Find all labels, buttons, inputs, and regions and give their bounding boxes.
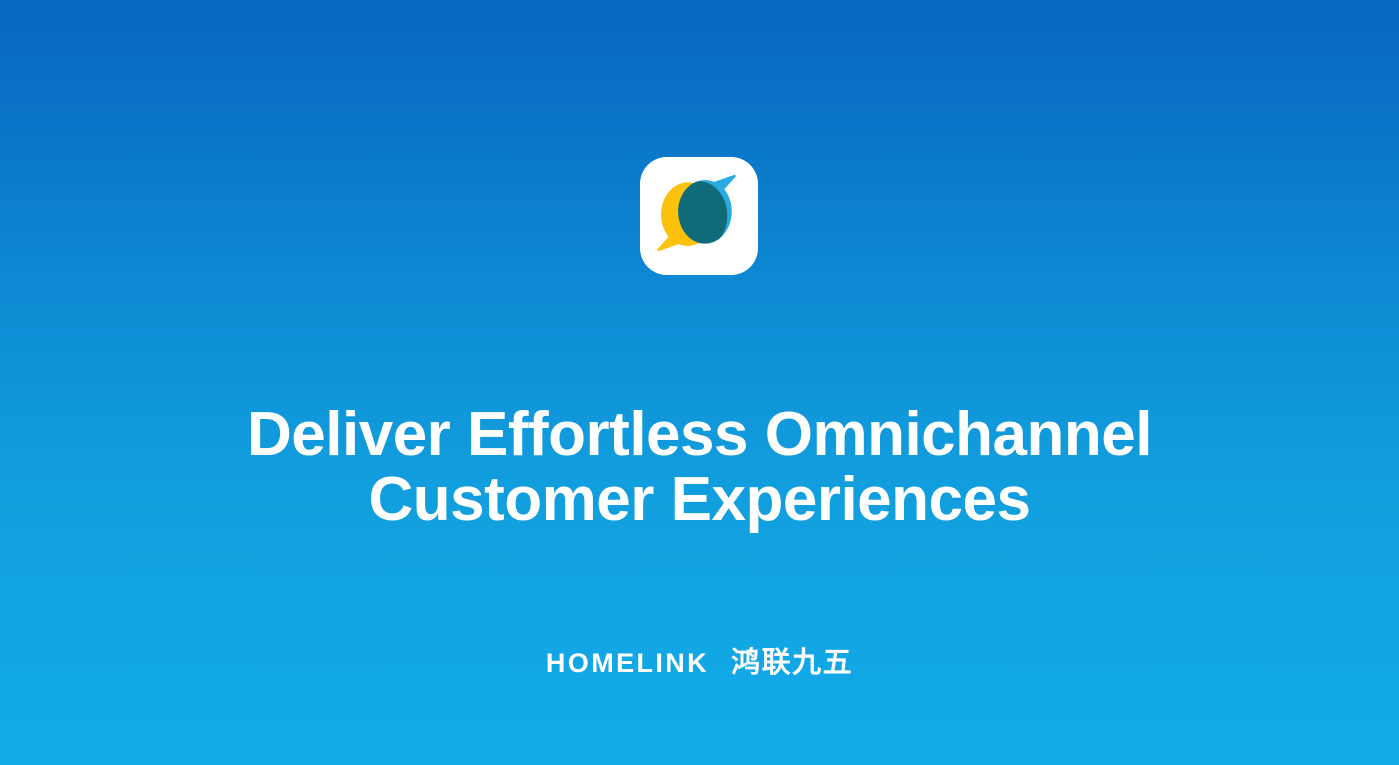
title-slide: Deliver Effortless Omnichannel Customer … xyxy=(0,0,1399,765)
headline-line-1: Deliver Effortless Omnichannel xyxy=(120,402,1279,468)
homelink-speech-bubbles-icon xyxy=(656,173,742,259)
slide-headline: Deliver Effortless Omnichannel Customer … xyxy=(0,402,1399,533)
homelink-logo-tile xyxy=(640,157,758,275)
headline-line-2: Customer Experiences xyxy=(120,467,1279,533)
brand-lockup: HOMELINK 鸿联九五 xyxy=(0,648,1399,677)
brand-name-chinese: 鸿联九五 xyxy=(731,648,853,677)
brand-name-latin: HOMELINK xyxy=(546,650,709,677)
